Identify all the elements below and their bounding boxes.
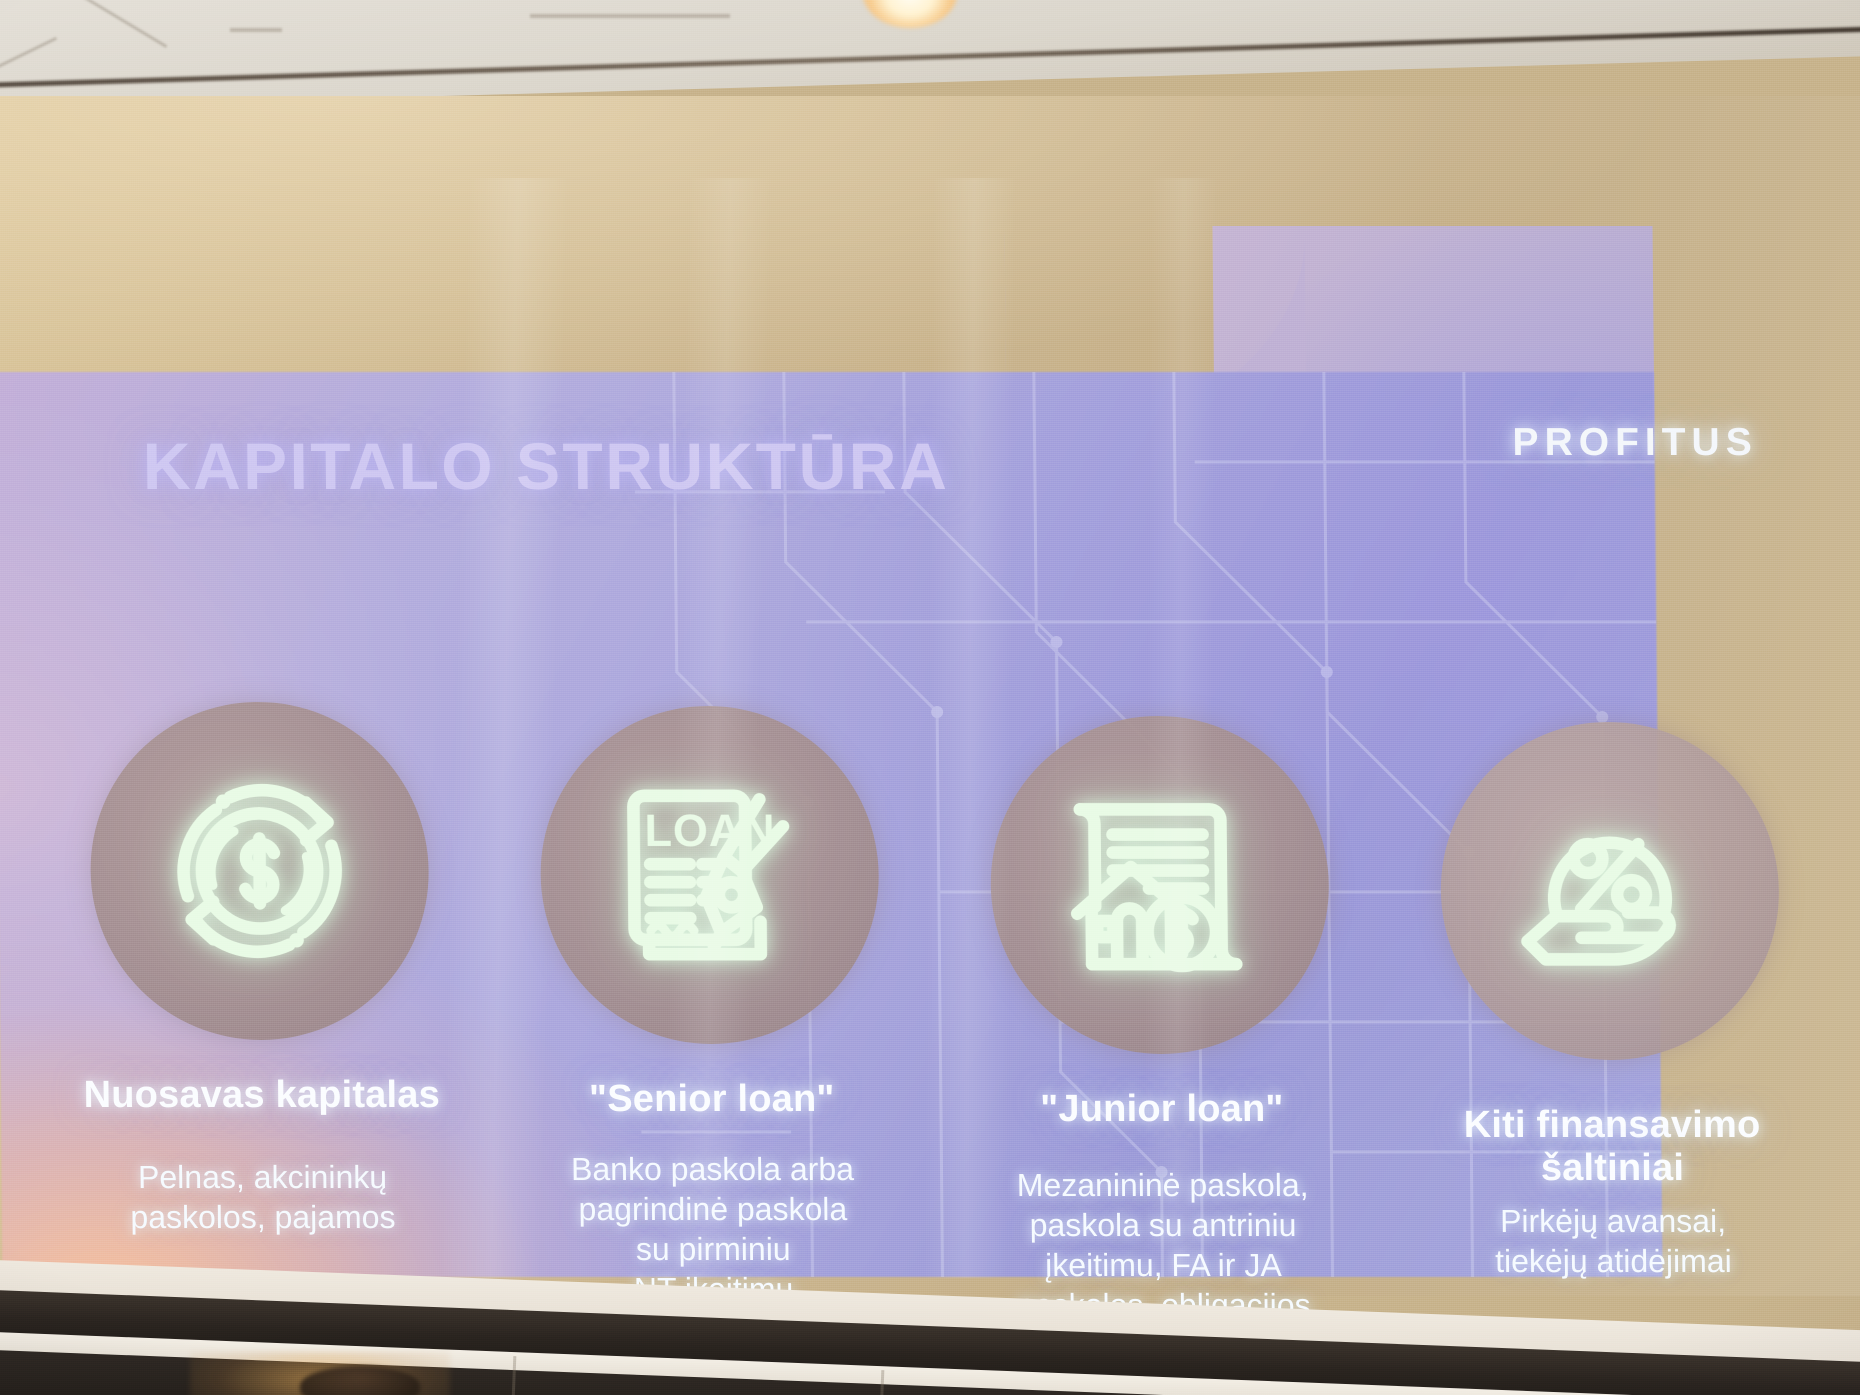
percent-in-hand-icon	[1501, 783, 1719, 999]
column-heading: "Junior loan"	[1040, 1088, 1284, 1131]
column-other-sources: Kiti finansavimo šaltiniai Pirkėjų avans…	[1383, 698, 1839, 1282]
house-mortgage-document-icon	[1051, 777, 1269, 993]
ceiling-mark	[530, 14, 730, 18]
svg-text:LOAN: LOAN	[644, 805, 776, 856]
money-recycle-icon	[151, 763, 369, 979]
capital-structure-columns: Nuosavas kapitalas Pelnas, akcininkų pas…	[33, 698, 1839, 1326]
column-body: Pelnas, akcininkų paskolos, pajamos	[130, 1157, 396, 1238]
loan-contract-signing-icon: LOAN	[601, 767, 819, 983]
column-own-capital: Nuosavas kapitalas Pelnas, akcininkų pas…	[33, 698, 488, 1237]
column-junior-loan: "Junior loan" Mezanininė paskola, paskol…	[933, 698, 1389, 1326]
projected-slide: KAPITALO STRUKTŪRA PROFITUS	[0, 178, 1860, 1274]
icon-badge	[89, 702, 430, 1040]
icon-badge	[1439, 722, 1780, 1060]
icon-badge: LOAN	[539, 706, 880, 1044]
brand-logo-profitus: PROFITUS	[1512, 421, 1758, 465]
page-title: KAPITALO STRUKTŪRA	[142, 428, 949, 504]
column-heading: "Senior loan"	[589, 1078, 835, 1121]
ceiling-mark	[230, 28, 282, 32]
column-senior-loan: LOAN "Senior loan" Banko paskola arba pa…	[483, 698, 939, 1310]
column-body: Pirkėjų avansai, tiekėjų atidėjimai	[1495, 1201, 1732, 1282]
icon-badge	[989, 716, 1330, 1054]
room-photo-scene: KAPITALO STRUKTŪRA PROFITUS	[0, 0, 1860, 1395]
column-heading: Kiti finansavimo šaltiniai	[1464, 1104, 1762, 1189]
column-heading: Nuosavas kapitalas	[83, 1074, 440, 1117]
